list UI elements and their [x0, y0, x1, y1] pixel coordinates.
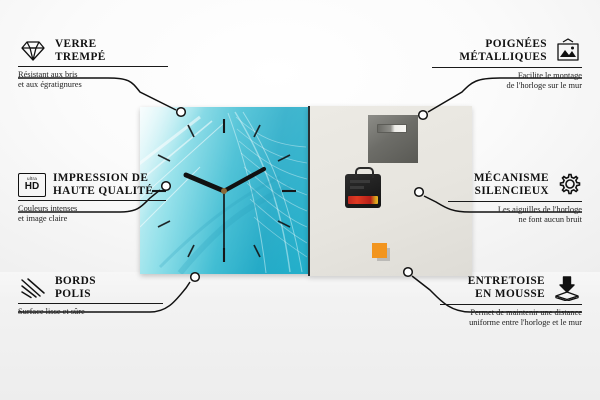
- diamond-icon: [18, 39, 48, 63]
- feature-title: ENTRETOISE EN MOUSSE: [468, 275, 545, 300]
- feature-header: POIGNÉES MÉTALLIQUES: [432, 38, 582, 64]
- feature-rule: [448, 201, 582, 202]
- feature-entretoise-en-mousse: ENTRETOISE EN MOUSSE Permet de maintenir…: [440, 275, 582, 328]
- feature-title: BORDS POLIS: [55, 275, 96, 300]
- feature-header: VERRE TREMPÉ: [18, 38, 168, 63]
- connector-dot-verre-trempe: [177, 108, 186, 117]
- feature-title: POIGNÉES MÉTALLIQUES: [459, 38, 547, 63]
- wall-mount-frame-icon: [554, 38, 582, 64]
- feature-impression-haute-qualite: ultra HD IMPRESSION DE HAUTE QUALITÉ Cou…: [18, 172, 166, 225]
- polished-edges-icon: [18, 276, 48, 300]
- feature-subtitle: Couleurs intenses et image claire: [18, 204, 166, 224]
- connector-dot-mecanisme: [415, 188, 424, 197]
- infographic-canvas: VERRE TREMPÉ Résistant aux bris et aux é…: [0, 0, 600, 400]
- feature-bords-polis: BORDS POLIS Surface lisse et sûre: [18, 275, 163, 317]
- feature-header: ultra HD IMPRESSION DE HAUTE QUALITÉ: [18, 172, 166, 197]
- feature-subtitle: Permet de maintenir une distance uniform…: [440, 308, 582, 328]
- feature-title: MÉCANISME SILENCIEUX: [474, 172, 549, 197]
- feature-rule: [18, 200, 166, 201]
- feature-mecanisme-silencieux: MÉCANISME SILENCIEUX Les aiguilles de l'…: [448, 172, 582, 225]
- connector-dot-entretoise: [404, 268, 413, 277]
- gear-icon: [556, 172, 582, 198]
- feature-subtitle: Facilite le montage de l'horloge sur le …: [432, 71, 582, 91]
- feature-header: ENTRETOISE EN MOUSSE: [440, 275, 582, 301]
- badge-large-text: HD: [25, 182, 39, 192]
- feature-rule: [18, 303, 163, 304]
- feature-rule: [18, 66, 168, 67]
- feature-header: MÉCANISME SILENCIEUX: [448, 172, 582, 198]
- feature-rule: [432, 67, 582, 68]
- feature-title: IMPRESSION DE HAUTE QUALITÉ: [53, 172, 153, 197]
- connector-dot-bords-polis: [191, 273, 200, 282]
- feature-rule: [440, 304, 582, 305]
- feature-header: BORDS POLIS: [18, 275, 163, 300]
- feature-verre-trempe: VERRE TREMPÉ Résistant aux bris et aux é…: [18, 38, 168, 91]
- foam-spacer-arrow-icon: [552, 275, 582, 301]
- feature-subtitle: Surface lisse et sûre: [18, 307, 163, 317]
- ultra-hd-badge-icon: ultra HD: [18, 173, 46, 197]
- feature-poignees-metalliques: POIGNÉES MÉTALLIQUES Facilite le montage…: [432, 38, 582, 91]
- feature-subtitle: Résistant aux bris et aux égratignures: [18, 70, 168, 90]
- feature-subtitle: Les aiguilles de l'horloge ne font aucun…: [448, 205, 582, 225]
- connector-dot-poignees: [419, 111, 428, 120]
- feature-title: VERRE TREMPÉ: [55, 38, 106, 63]
